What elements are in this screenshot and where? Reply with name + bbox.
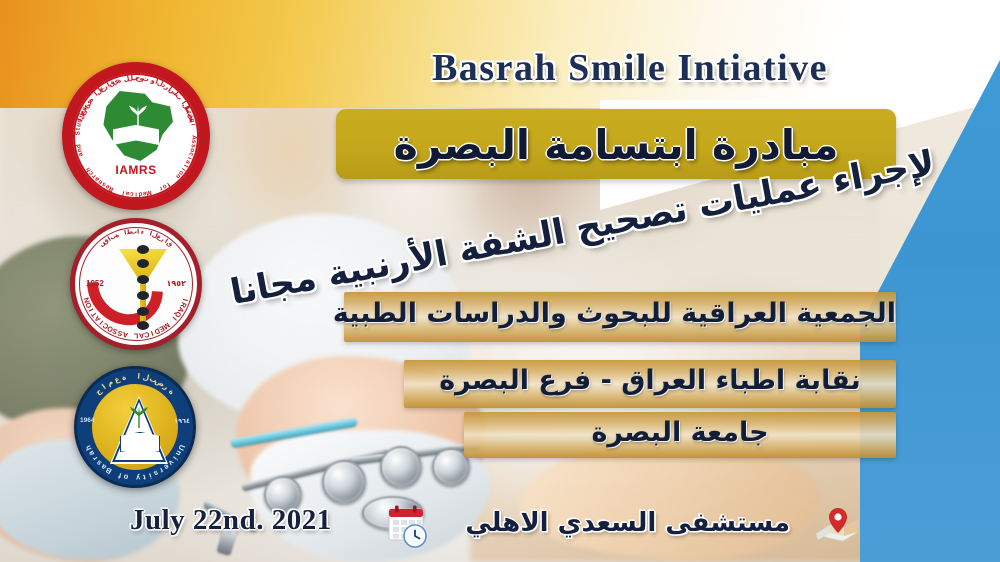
- organizer-label-1: الجمعية العراقية للبحوث والدراسات الطبية: [344, 298, 896, 329]
- poster-canvas: Basrah Smile Intiative مبادرة ابتسامة ال…: [0, 0, 1000, 562]
- calendar-clock-icon: [388, 504, 430, 550]
- organizer-label-2: نقابة اطباء العراق - فرع البصرة: [404, 365, 896, 396]
- logo-iamrs: IAMRS الجمعية العراقية للبحوث والدراسات …: [62, 62, 210, 210]
- english-title: Basrah Smile Intiative: [370, 46, 890, 90]
- photo-patient-arm: [520, 440, 820, 560]
- logo-uob-ring-text: جامعة البصرةUniversity of Basrah: [77, 369, 193, 485]
- map-pin-icon: [812, 502, 860, 550]
- event-date: July 22nd. 2021: [130, 504, 380, 537]
- logo-iamrs-ring-text: الجمعية العراقية للبحوث والدراسات الطبية…: [73, 73, 199, 199]
- event-venue: مستشفى السعدي الاهلي: [470, 508, 790, 538]
- logo-university-of-basrah: 1964 ١٩٦٤ جامعة البصرةUniversity of Basr…: [74, 366, 196, 488]
- logo-iraqi-medical-association: 1952 ١٩٥٢ نقابة اطباء العراقIRAQI MEDICA…: [70, 218, 202, 350]
- logo-ima-ring-text: نقابة اطباء العراقIRAQI MEDICAL ASSOCIAT…: [75, 223, 197, 345]
- organizer-label-3: جامعة البصرة: [464, 417, 896, 448]
